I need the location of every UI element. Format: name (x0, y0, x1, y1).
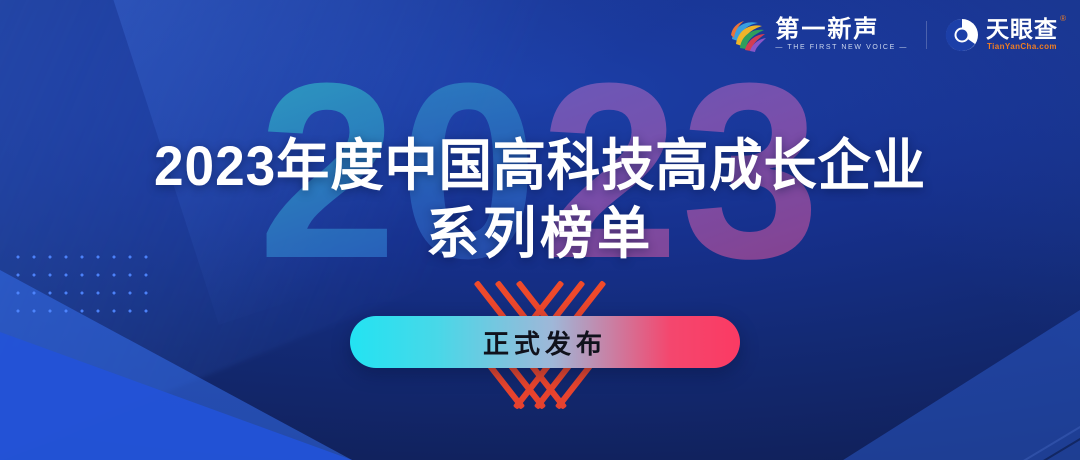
first-new-voice-cn: 第一新声 (775, 18, 908, 42)
tianyancha-text: ® 天眼查 TianYanCha.com (986, 18, 1058, 52)
wedge-shape-bottom-left-front (0, 332, 352, 460)
first-new-voice-tagline: — THE FIRST NEW VOICE — (775, 42, 908, 53)
eye-lens-logo-icon (945, 18, 979, 52)
promo-banner: 2023 第一新声 — THE FIRST N (0, 0, 1080, 460)
headline-line-1: 2023年度中国高科技高成长企业 (27, 132, 1053, 200)
tianyancha-domain: TianYanCha.com (986, 41, 1058, 52)
logo-bar: 第一新声 — THE FIRST NEW VOICE — ® 天眼查 TianY… (728, 12, 1058, 58)
logo-first-new-voice[interactable]: 第一新声 — THE FIRST NEW VOICE — (728, 17, 908, 53)
first-new-voice-text: 第一新声 — THE FIRST NEW VOICE — (775, 18, 908, 53)
page-title: 2023年度中国高科技高成长企业 系列榜单 (0, 132, 1080, 268)
tianyancha-cn: 天眼查 (986, 18, 1058, 41)
swirl-ribbon-logo-icon (728, 17, 768, 53)
release-button[interactable]: 正式发布 (350, 316, 740, 368)
release-button-label: 正式发布 (483, 324, 607, 361)
logo-divider (926, 21, 927, 49)
hairline-bottom-right (749, 420, 1080, 460)
wedge-shape-bottom-right (780, 310, 1080, 460)
logo-tianyancha[interactable]: ® 天眼查 TianYanCha.com (945, 18, 1058, 52)
hairline-bottom-right-secondary (767, 408, 1080, 460)
headline-line-2: 系列榜单 (27, 200, 1053, 268)
registered-trademark-icon: ® (1060, 15, 1066, 23)
